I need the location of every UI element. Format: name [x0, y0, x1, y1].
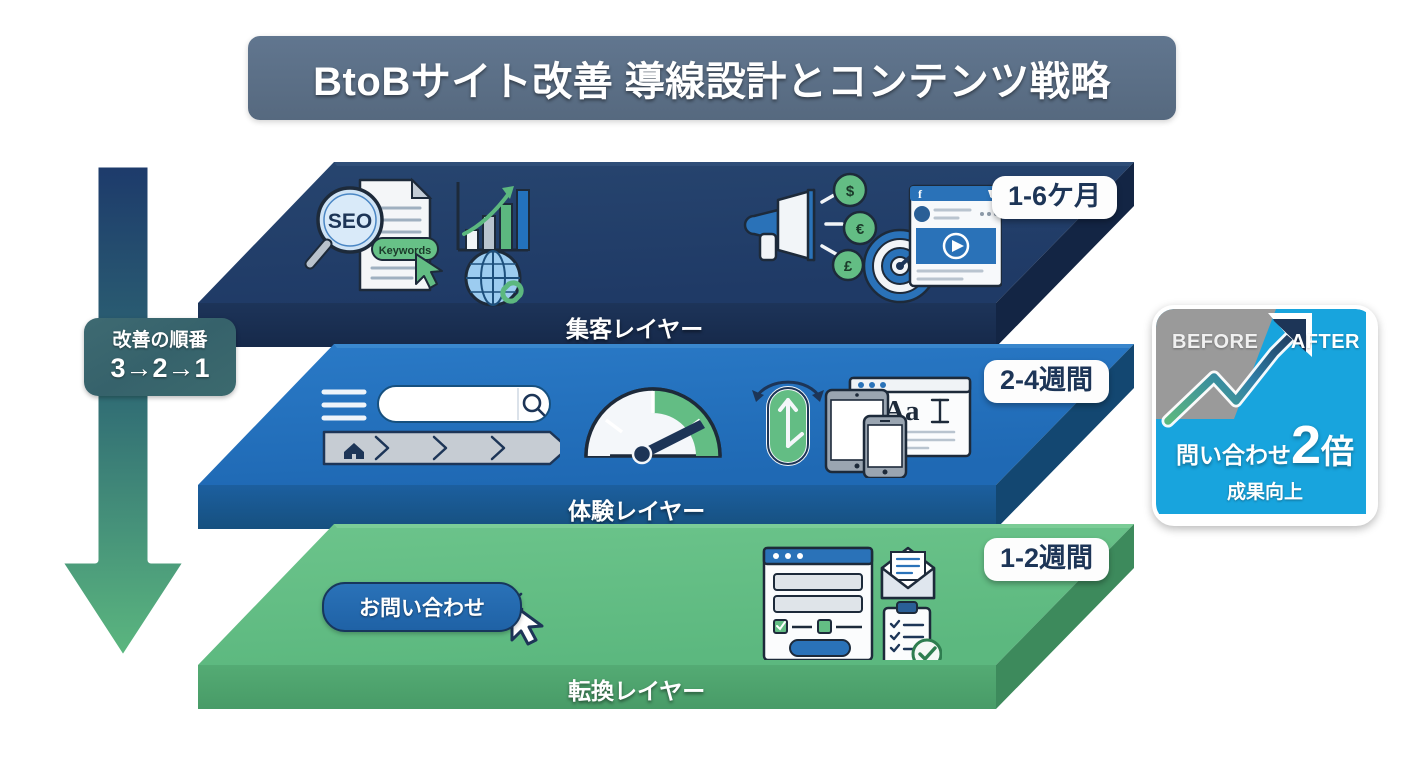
result-sub-label: 成果向上	[1156, 477, 1374, 504]
experience-nav-icon-group	[310, 378, 560, 473]
svg-text:£: £	[844, 258, 853, 275]
result-metric-value: 2	[1291, 421, 1321, 470]
order-label-line2: 3→2→1	[110, 352, 209, 384]
result-metric: 問い合わせ2倍	[1156, 421, 1374, 473]
order-label-line1: 改善の順番	[112, 330, 207, 352]
improvement-order-arrow: 改善の順番 3→2→1	[48, 160, 198, 700]
acquisition-icon-group: Keywords SEO	[300, 172, 550, 317]
acquisition-promo-icon-group: $ € £ f	[742, 170, 1002, 310]
badge-timeframe-acquisition: 1-6ケ月	[992, 176, 1117, 219]
experience-responsive-icon-group: Aa	[748, 368, 978, 483]
layer-label-acquisition: 集客レイヤー	[566, 310, 703, 344]
layer-label-conversion: 転換レイヤー	[568, 672, 705, 706]
badge-timeframe-experience: 2-4週間	[984, 360, 1109, 403]
result-metric-prefix: 問い合わせ	[1176, 436, 1291, 470]
layer-label-experience: 体験レイヤー	[568, 492, 705, 526]
svg-text:$: $	[846, 183, 855, 200]
experience-gauge-icon	[578, 368, 728, 473]
contact-cta-button[interactable]: お問い合わせ	[322, 582, 522, 632]
page-title: BtoBサイト改善 導線設計とコンテンツ戦略	[313, 49, 1111, 107]
down-arrow-icon	[48, 160, 198, 700]
infographic-canvas: BtoBサイト改善 導線設計とコンテンツ戦略 改善の順番 3→2→1	[0, 0, 1408, 768]
svg-text:€: €	[856, 221, 865, 238]
title-banner: BtoBサイト改善 導線設計とコンテンツ戦略	[248, 36, 1176, 120]
order-label-box: 改善の順番 3→2→1	[84, 318, 236, 396]
after-label: AFTER	[1291, 331, 1360, 354]
before-label: BEFORE	[1172, 331, 1258, 354]
svg-text:SEO: SEO	[328, 210, 372, 233]
conversion-form-icon-group	[762, 540, 942, 665]
result-badge-card: BEFORE AFTER 問い合わせ2倍 成果向上	[1152, 305, 1378, 526]
svg-text:Keywords: Keywords	[379, 245, 432, 257]
result-badge-inner: BEFORE AFTER 問い合わせ2倍 成果向上	[1156, 309, 1374, 522]
badge-timeframe-conversion: 1-2週間	[984, 538, 1109, 581]
result-metric-suffix: 倍	[1321, 425, 1354, 473]
